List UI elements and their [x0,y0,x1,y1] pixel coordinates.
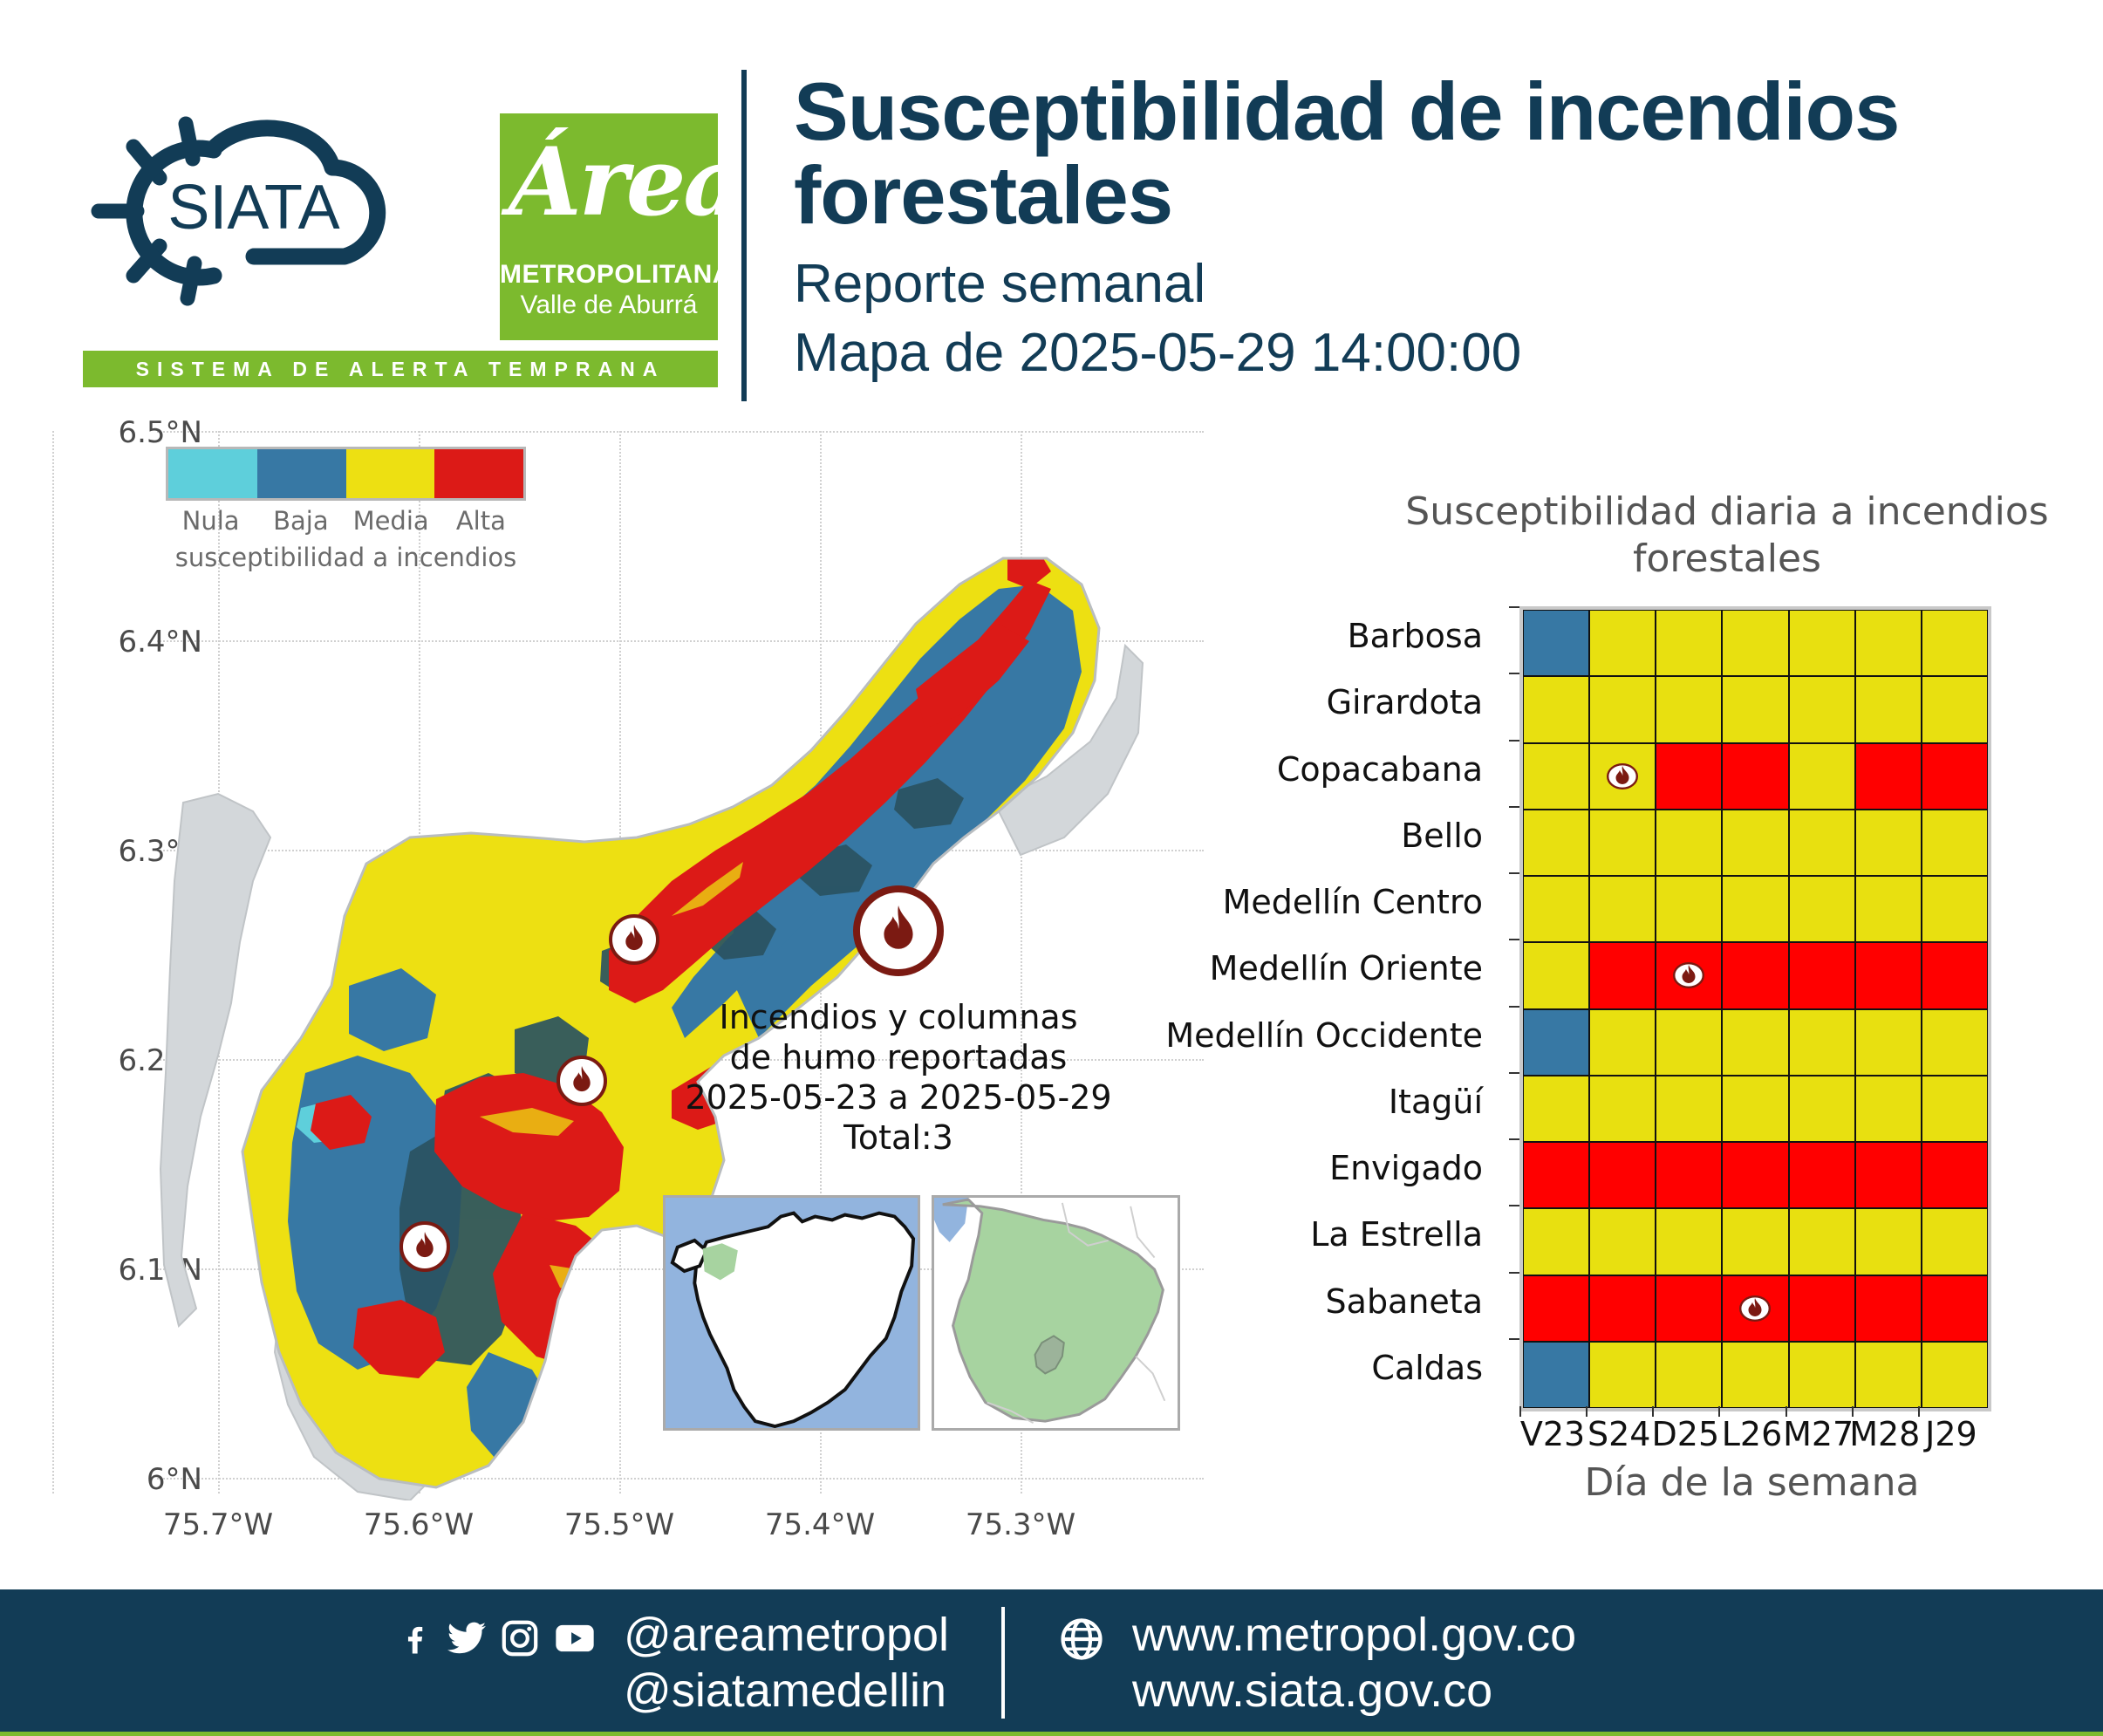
heatmap-cell-medell-n-occidente-j29[interactable] [1922,1009,1988,1076]
handle-siatamedellin: @siatamedellin [624,1663,949,1719]
heatmap-cell-la-estrella-s24[interactable] [1589,1208,1656,1275]
daily-susceptibility-heatmap-panel: Susceptibilidad diaria a incendios fores… [1247,489,2085,1518]
heatmap-cell-itag--v23[interactable] [1523,1076,1589,1142]
heatmap-cell-sabaneta-m28[interactable] [1855,1275,1922,1342]
heatmap-row-label-medell-n-oriente: Medellín Oriente [925,949,1483,988]
heatmap-cell-envigado-s24[interactable] [1589,1142,1656,1208]
link-siata[interactable]: www.siata.gov.co [1132,1663,1576,1719]
heatmap-cell-envigado-m27[interactable] [1789,1142,1855,1208]
heatmap-col-tick [1918,1406,1920,1417]
heatmap-xaxis-title: Día de la semana [1519,1460,1984,1505]
inset-map-colombia [663,1195,920,1431]
website-links: www.metropol.gov.co www.siata.gov.co [1132,1607,1576,1719]
heatmap-row-label-envigado: Envigado [925,1149,1483,1187]
heatmap-cell-girardota-m28[interactable] [1855,676,1922,742]
heatmap-cell-caldas-m27[interactable] [1789,1342,1855,1408]
twitter-icon[interactable] [446,1616,488,1661]
heatmap-cell-medell-n-occidente-m28[interactable] [1855,1009,1922,1076]
heatmap-cell-caldas-l26[interactable] [1722,1342,1788,1408]
flame-icon [569,1066,595,1096]
heatmap-cell-girardota-m27[interactable] [1789,676,1855,742]
heatmap-cell-barbosa-s24[interactable] [1589,610,1656,676]
heatmap-cell-medell-n-occidente-d25[interactable] [1656,1009,1722,1076]
heatmap-cell-medell-n-oriente-v23[interactable] [1523,942,1589,1008]
heatmap-cell-medell-n-centro-v23[interactable] [1523,876,1589,942]
heatmap-fire-marker [1673,962,1704,988]
header-divider [741,70,747,401]
heatmap-row-tick [1509,740,1519,742]
heatmap-cell-itag--l26[interactable] [1722,1076,1788,1142]
fire-marker-north[interactable] [609,914,659,965]
legend-caption: susceptibilidad a incendios [166,543,526,572]
heatmap-cell-envigado-v23[interactable] [1523,1142,1589,1208]
heatmap-col-tick [1519,1406,1521,1417]
heatmap-cell-itag--j29[interactable] [1922,1076,1988,1142]
heatmap-col-tick [1586,1406,1587,1417]
heatmap-row-tick [1509,1205,1519,1206]
heatmap-row-tick [1509,1338,1519,1340]
map-xtick-label: 75.6°W [323,1507,515,1542]
map-xtick-label: 75.5°W [523,1507,715,1542]
heatmap-cell-girardota-l26[interactable] [1722,676,1788,742]
heatmap-cell-envigado-j29[interactable] [1922,1142,1988,1208]
legend-labels: Nula Baja Media Alta [166,506,526,536]
heatmap-cell-medell-n-occidente-l26[interactable] [1722,1009,1788,1076]
heatmap-col-tick [1652,1406,1654,1417]
heatmap-cell-medell-n-oriente-m27[interactable] [1789,942,1855,1008]
heatmap-cell-medell-n-occidente-m27[interactable] [1789,1009,1855,1076]
heatmap-cell-envigado-d25[interactable] [1656,1142,1722,1208]
heatmap-cell-medell-n-centro-d25[interactable] [1656,876,1722,942]
heatmap-row-label-sabaneta: Sabaneta [925,1282,1483,1321]
heatmap-cell-bello-l26[interactable] [1722,810,1788,876]
legend-colorbar [166,447,526,501]
heatmap-cell-la-estrella-m27[interactable] [1789,1208,1855,1275]
heatmap-cell-medell-n-oriente-m28[interactable] [1855,942,1922,1008]
heatmap-cell-medell-n-centro-j29[interactable] [1922,876,1988,942]
heatmap-row-tick [1509,1006,1519,1008]
heatmap-row-tick [1509,806,1519,808]
logo-metropolitana-text: METROPOLITANA [500,260,718,290]
heatmap-cell-bello-d25[interactable] [1656,810,1722,876]
flame-icon [876,906,921,956]
heatmap-cell-caldas-m28[interactable] [1855,1342,1922,1408]
heatmap-row-label-bello: Bello [925,817,1483,855]
area-metropolitana-logo: Área METROPOLITANA Valle de Aburrá [500,113,718,340]
heatmap-title: Susceptibilidad diaria a incendios fores… [1378,489,2076,583]
map-timestamp: Mapa de 2025-05-29 14:00:00 [794,319,2059,387]
heatmap-cell-medell-n-centro-s24[interactable] [1589,876,1656,942]
heatmap-cell-sabaneta-v23[interactable] [1523,1275,1589,1342]
heatmap-cell-bello-m27[interactable] [1789,810,1855,876]
social-handles: @areametropol @siatamedellin [624,1607,949,1719]
facebook-icon[interactable] [397,1616,434,1661]
map-xtick-label: 75.3°W [925,1507,1116,1542]
handle-areametropol: @areametropol [624,1607,949,1663]
report-subtitle: Reporte semanal [794,249,2059,319]
heatmap-col-tick [1718,1406,1720,1417]
legend-swatch-alta [434,449,523,498]
heatmap-cell-envigado-m28[interactable] [1855,1142,1922,1208]
heatmap-cell-bello-s24[interactable] [1589,810,1656,876]
heatmap-cell-la-estrella-j29[interactable] [1922,1208,1988,1275]
siata-logo: SIATA Área METROPOLITANA Valle de Aburrá… [83,113,659,384]
heatmap-col-tick [1852,1406,1854,1417]
heatmap-cell-la-estrella-l26[interactable] [1722,1208,1788,1275]
heatmap-cell-medell-n-oriente-l26[interactable] [1722,942,1788,1008]
footer-green-baseline [0,1732,2103,1736]
map-xtick-label: 75.7°W [122,1507,314,1542]
heatmap-cell-barbosa-m27[interactable] [1789,610,1855,676]
footer-web-block: www.metropol.gov.co www.siata.gov.co [1057,1607,1576,1719]
heatmap-cell-la-estrella-m28[interactable] [1855,1208,1922,1275]
fire-marker-south[interactable] [399,1221,450,1272]
footer-divider [1001,1607,1005,1719]
footer-content: @areametropol @siatamedellin www.metropo… [397,1607,1576,1719]
heatmap-cell-itag--s24[interactable] [1589,1076,1656,1142]
heatmap-cell-girardota-s24[interactable] [1589,676,1656,742]
heatmap-cell-girardota-v23[interactable] [1523,676,1589,742]
heatmap-cell-barbosa-j29[interactable] [1922,610,1988,676]
heatmap-cell-bello-m28[interactable] [1855,810,1922,876]
heatmap-cell-copacabana-j29[interactable] [1922,743,1988,810]
legend-swatch-baja [257,449,346,498]
siata-sun-cloud-icon: SIATA [83,113,423,314]
heatmap-row-tick [1509,1138,1519,1140]
heatmap-row-label-itag-: Itagüí [925,1083,1483,1121]
heatmap-cell-itag--m27[interactable] [1789,1076,1855,1142]
heatmap-col-tick [1786,1406,1787,1417]
heatmap-cell-bello-v23[interactable] [1523,810,1589,876]
heatmap-cell-copacabana-m28[interactable] [1855,743,1922,810]
heatmap-cell-girardota-j29[interactable] [1922,676,1988,742]
heatmap-cell-medell-n-occidente-s24[interactable] [1589,1009,1656,1076]
poster-root: SIATA Área METROPOLITANA Valle de Aburrá… [0,0,2103,1736]
heatmap-cell-envigado-l26[interactable] [1722,1142,1788,1208]
heatmap-row-tick [1509,606,1519,608]
map-legend: Nula Baja Media Alta susceptibilidad a i… [166,447,526,572]
heatmap-cell-medell-n-centro-m27[interactable] [1789,876,1855,942]
heatmap-row-tick [1509,872,1519,874]
area-script-text: Área [509,117,709,261]
heatmap-cell-sabaneta-l26[interactable] [1722,1275,1788,1342]
heatmap-row-label-caldas: Caldas [925,1349,1483,1387]
heatmap-cell-sabaneta-s24[interactable] [1589,1275,1656,1342]
heatmap-cell-caldas-s24[interactable] [1589,1342,1656,1408]
heatmap-row-label-girardota: Girardota [925,683,1483,721]
heatmap-cell-copacabana-s24[interactable] [1589,743,1656,810]
footer: @areametropol @siatamedellin www.metropo… [0,1589,2103,1736]
heatmap-row-label-la-estrella: La Estrella [925,1215,1483,1254]
legend-label-media: Media [346,506,436,536]
colombia-outline [666,1198,918,1428]
heatmap-cell-medell-n-oriente-d25[interactable] [1656,942,1722,1008]
heatmap-cell-medell-n-oriente-s24[interactable] [1589,942,1656,1008]
heatmap-cell-caldas-d25[interactable] [1656,1342,1722,1408]
link-metropol[interactable]: www.metropol.gov.co [1132,1607,1576,1663]
heatmap-cell-medell-n-oriente-j29[interactable] [1922,942,1988,1008]
legend-swatch-nula [168,449,257,498]
page-title: Susceptibilidad de incendios forestales [794,70,2059,237]
heatmap-row-tick [1509,1072,1519,1074]
heatmap-cell-copacabana-m27[interactable] [1789,743,1855,810]
legend-label-alta: Alta [436,506,526,536]
heatmap-cell-sabaneta-m27[interactable] [1789,1275,1855,1342]
social-icons [397,1616,597,1661]
heatmap-row-tick [1509,1272,1519,1274]
heatmap-row-tick [1509,673,1519,674]
heatmap-cell-sabaneta-j29[interactable] [1922,1275,1988,1342]
heatmap-cell-medell-n-occidente-v23[interactable] [1523,1009,1589,1076]
flame-icon [412,1232,438,1261]
heatmap-cell-copacabana-l26[interactable] [1722,743,1788,810]
logo-valle-text: Valle de Aburrá [500,290,718,320]
heatmap-cell-copacabana-v23[interactable] [1523,743,1589,810]
heatmap-cell-caldas-v23[interactable] [1523,1342,1589,1408]
header-text-block: Susceptibilidad de incendios forestales … [794,70,2059,387]
heatmap-cell-medell-n-centro-l26[interactable] [1722,876,1788,942]
instagram-icon[interactable] [500,1616,540,1661]
heatmap-cell-bello-j29[interactable] [1922,810,1988,876]
heatmap-cell-medell-n-centro-m28[interactable] [1855,876,1922,942]
heatmap-row-label-barbosa: Barbosa [925,617,1483,655]
heatmap-cell-barbosa-m28[interactable] [1855,610,1922,676]
map-panel: 6.5°N 6.4°N 6.3°N 6.2°N 6.1°N 6°N 75.7°W… [52,410,1204,1588]
heatmap-cell-itag--d25[interactable] [1656,1076,1722,1142]
heatmap-cell-barbosa-l26[interactable] [1722,610,1788,676]
flame-icon [621,925,647,954]
heatmap-cell-caldas-j29[interactable] [1922,1342,1988,1408]
heatmap-fire-marker [1607,763,1638,789]
legend-swatch-media [346,449,435,498]
header: SIATA Área METROPOLITANA Valle de Aburrá… [0,0,2103,410]
youtube-icon[interactable] [552,1616,597,1661]
heatmap-cell-copacabana-d25[interactable] [1656,743,1722,810]
map-xtick-label: 75.4°W [724,1507,916,1542]
legend-label-nula: Nula [166,506,256,536]
heatmap-row-label-medell-n-centro: Medellín Centro [925,883,1483,921]
heatmap-fire-marker [1739,1295,1771,1322]
heatmap-cell-la-estrella-v23[interactable] [1523,1208,1589,1275]
heatmap-row-tick [1509,939,1519,940]
heatmap-col-label-j29: J29 [1899,1415,2004,1453]
siata-logo-text: SIATA [167,173,339,243]
legend-label-baja: Baja [256,506,345,536]
heatmap-cell-la-estrella-d25[interactable] [1656,1208,1722,1275]
heatmap-cell-itag--m28[interactable] [1855,1076,1922,1142]
logo-tagline: SISTEMA DE ALERTA TEMPRANA [83,351,718,387]
globe-icon [1057,1612,1106,1666]
heatmap-cell-barbosa-d25[interactable] [1656,610,1722,676]
heatmap-cell-girardota-d25[interactable] [1656,676,1722,742]
heatmap-row-label-medell-n-occidente: Medellín Occidente [925,1016,1483,1055]
heatmap-cell-sabaneta-d25[interactable] [1656,1275,1722,1342]
heatmap-row-label-copacabana: Copacabana [925,750,1483,789]
heatmap-cell-barbosa-v23[interactable] [1523,610,1589,676]
heatmap-grid[interactable] [1519,606,1991,1411]
fire-marker-center[interactable] [556,1056,607,1106]
